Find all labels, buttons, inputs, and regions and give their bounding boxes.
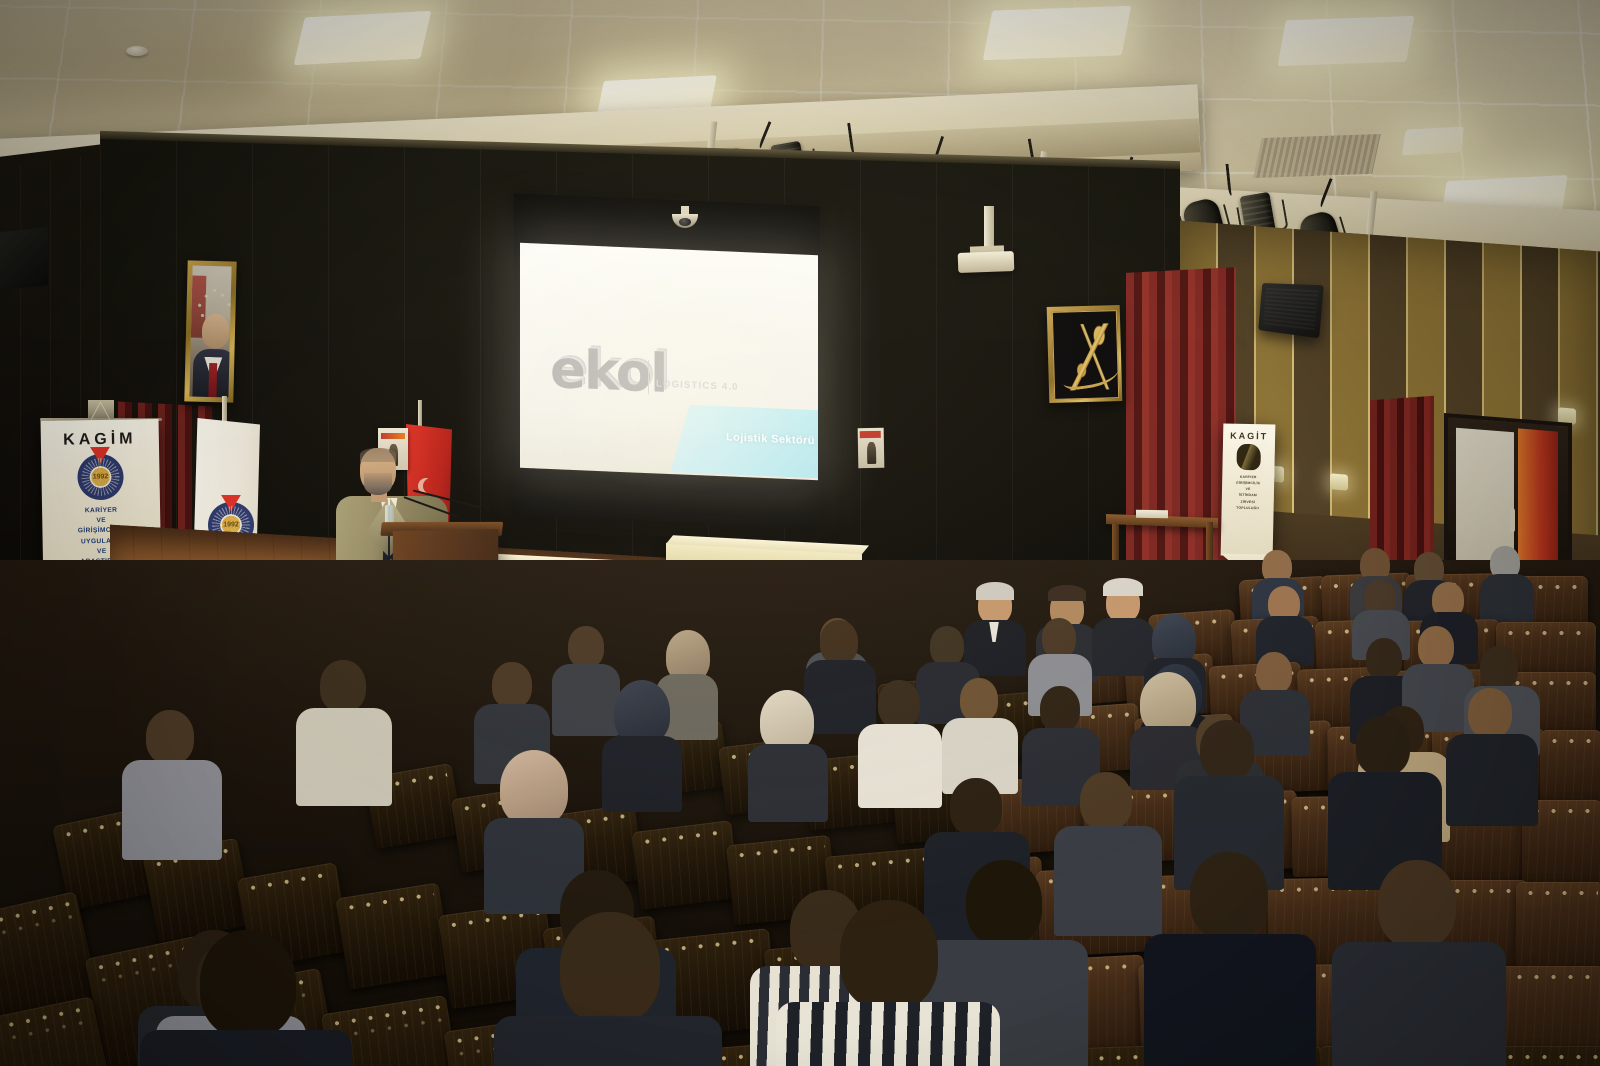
seat[interactable] <box>335 882 452 989</box>
portrait-canvas <box>189 266 231 398</box>
projection-screen: ekol LOGISTICS 4.0 Lojistik Sektörü <box>520 243 818 480</box>
seat[interactable] <box>1496 1046 1600 1066</box>
framed-calligraphy <box>1047 305 1123 403</box>
banner-kagit-title: KAGİT <box>1223 423 1275 441</box>
lamp-cable <box>1225 163 1234 195</box>
wall-speaker-icon <box>1258 283 1324 338</box>
banner-kagim-title: KAGİM <box>41 419 159 450</box>
seat[interactable] <box>1516 882 1600 974</box>
table-documents <box>1136 510 1168 519</box>
slide-logo-divider <box>648 360 649 394</box>
framed-portrait <box>184 260 236 402</box>
portrait-tie <box>208 363 217 397</box>
left-wall-speaker <box>0 227 48 291</box>
door-handle[interactable] <box>1510 508 1515 532</box>
ceiling-light-panel <box>1402 127 1465 156</box>
seat[interactable] <box>632 820 741 910</box>
presenter-hair <box>360 448 396 462</box>
emblem-year: 1992 <box>93 473 109 480</box>
stage-curtain-right <box>1126 267 1236 603</box>
ceiling-light-panel <box>294 11 432 65</box>
calligraphy-canvas <box>1052 310 1119 400</box>
portrait-face <box>202 314 230 349</box>
banner-kagit-lines: KARİYER GİRİŞİMCİLİK VE İSTİHDAM ZİRVESİ… <box>1222 473 1275 511</box>
lamp-cable <box>1319 178 1335 208</box>
seat[interactable] <box>1540 730 1600 804</box>
ceiling-light-panel <box>983 6 1132 61</box>
lamp-cable <box>847 122 857 155</box>
kagit-emblem <box>1236 444 1261 470</box>
wall-sconce-light <box>1330 473 1348 490</box>
presenter-beard <box>364 473 392 495</box>
ceiling-light-panel <box>1277 16 1414 66</box>
smoke-detector-icon <box>126 46 148 56</box>
banner-kagit: KAGİT KARİYER GİRİŞİMCİLİK VE İSTİHDAM Z… <box>1221 423 1276 556</box>
projector-icon <box>958 251 1015 273</box>
slide-tagline: LOGISTICS 4.0 <box>656 378 739 392</box>
event-poster-wall <box>858 428 885 468</box>
university-emblem-year: 1992 <box>223 522 239 529</box>
auditorium-seating <box>0 560 1600 1066</box>
kagim-emblem: 1992 <box>77 454 124 501</box>
auditorium-photo: ekol LOGISTICS 4.0 Lojistik Sektörü <box>0 0 1600 1066</box>
presentation-slide: ekol LOGISTICS 4.0 Lojistik Sektörü <box>520 243 818 480</box>
